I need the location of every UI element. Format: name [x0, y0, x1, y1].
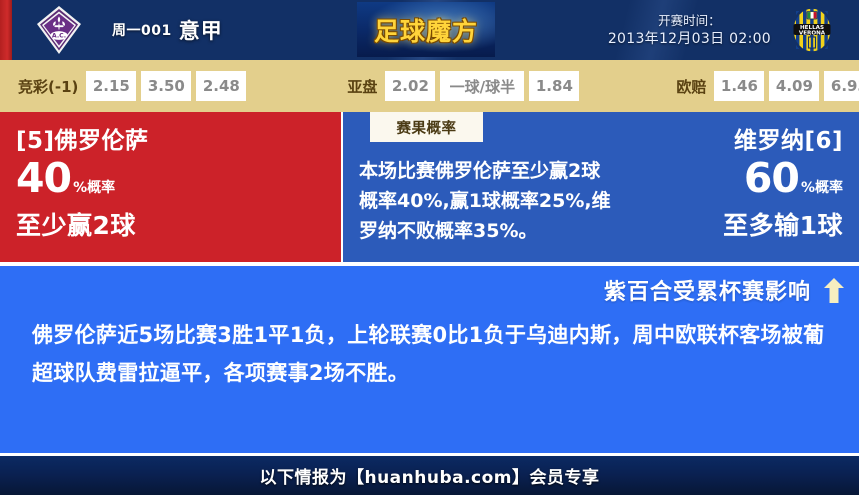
away-team-name: 维罗纳[6]	[623, 126, 843, 156]
footer-notice-text: 以下情报为【huanhuba.com】会员专享	[259, 463, 599, 488]
brand-logo-text: 足球魔方	[374, 12, 478, 48]
hellas-verona-crest-icon: HELLAS VERONA	[785, 3, 839, 57]
analysis-headline-row: 紫百合受累杯赛影响	[0, 266, 859, 314]
home-percent-suffix: %概率	[73, 180, 115, 196]
kickoff-value: 2013年12月03日 02:00	[608, 30, 771, 49]
home-team-name: [5]佛罗伦萨	[16, 126, 341, 156]
arrow-up-icon	[823, 277, 845, 304]
analysis-headline: 紫百合受累杯赛影响	[604, 274, 811, 306]
header-bar: A.C. 周一001 意甲 足球魔方 开赛时间： 2013年12月03日 02:…	[0, 0, 859, 60]
odds-cell[interactable]: 4.09	[769, 71, 819, 101]
odds-cell[interactable]: 2.48	[196, 71, 246, 101]
tab-result-probability[interactable]: 赛果概率	[370, 112, 483, 142]
header-left-accent-bar	[0, 0, 12, 60]
home-percent-value: 40	[16, 154, 71, 202]
odds-group-jingcai: 竞彩(-1) 2.15 3.50 2.48	[18, 71, 251, 101]
kickoff-time-block: 开赛时间： 2013年12月03日 02:00	[608, 0, 771, 60]
analysis-body-text: 佛罗伦萨近5场比赛3胜1平1负，上轮联赛0比1负于乌迪内斯，周中欧联杯客场被葡超…	[0, 314, 859, 392]
probability-summary-text: 本场比赛佛罗伦萨至少赢2球概率40%,赢1球概率25%,维罗纳不败概率35%。	[359, 156, 613, 246]
odds-group-asian-handicap: 亚盘 2.02 一球/球半 1.84	[347, 71, 584, 101]
fiorentina-crest-icon: A.C.	[33, 4, 85, 56]
kickoff-label: 开赛时间：	[658, 12, 721, 30]
probability-summary-panel: 赛果概率 本场比赛佛罗伦萨至少赢2球概率40%,赢1球概率25%,维罗纳不败概率…	[343, 112, 623, 262]
odds-cell[interactable]: 2.15	[86, 71, 136, 101]
odds-group-label: 竞彩(-1)	[18, 76, 78, 97]
odds-cell[interactable]: 3.50	[141, 71, 191, 101]
odds-cell[interactable]: 1.46	[714, 71, 764, 101]
analysis-section: 紫百合受累杯赛影响 佛罗伦萨近5场比赛3胜1平1负，上轮联赛0比1负于乌迪内斯，…	[0, 262, 859, 453]
home-probability-panel: [5]佛罗伦萨 40%概率 至少赢2球	[0, 112, 343, 262]
svg-text:A.C.: A.C.	[52, 33, 66, 40]
odds-bar: 竞彩(-1) 2.15 3.50 2.48 亚盘 2.02 一球/球半 1.84…	[0, 60, 859, 112]
round-label: 周一001	[112, 20, 172, 40]
away-outcome-label: 至多输1球	[623, 210, 843, 242]
match-title-group: 周一001 意甲	[112, 0, 223, 60]
odds-cell[interactable]: 6.93	[824, 71, 859, 101]
footer-bar: 以下情报为【huanhuba.com】会员专享	[0, 453, 859, 495]
away-probability-panel: 维罗纳[6] 60%概率 至多输1球	[623, 112, 859, 262]
home-outcome-label: 至少赢2球	[16, 210, 341, 242]
away-percent-line: 60%概率	[623, 156, 843, 210]
odds-cell[interactable]: 2.02	[385, 71, 435, 101]
away-percent-value: 60	[744, 154, 799, 202]
odds-group-label: 亚盘	[347, 76, 377, 97]
odds-cell-handicap[interactable]: 一球/球半	[440, 71, 524, 101]
odds-group-label: 欧赔	[676, 76, 706, 97]
match-preview-poster: A.C. 周一001 意甲 足球魔方 开赛时间： 2013年12月03日 02:…	[0, 0, 859, 498]
brand-logo-box: 足球魔方	[357, 2, 495, 57]
odds-group-european: 欧赔 1.46 4.09 6.93	[676, 71, 859, 101]
crest-banner-line2: VERONA	[799, 30, 826, 36]
away-percent-suffix: %概率	[801, 180, 843, 196]
odds-cell[interactable]: 1.84	[529, 71, 579, 101]
home-percent-line: 40%概率	[16, 156, 341, 210]
league-label: 意甲	[179, 15, 223, 45]
probability-row: [5]佛罗伦萨 40%概率 至少赢2球 赛果概率 本场比赛佛罗伦萨至少赢2球概率…	[0, 112, 859, 262]
